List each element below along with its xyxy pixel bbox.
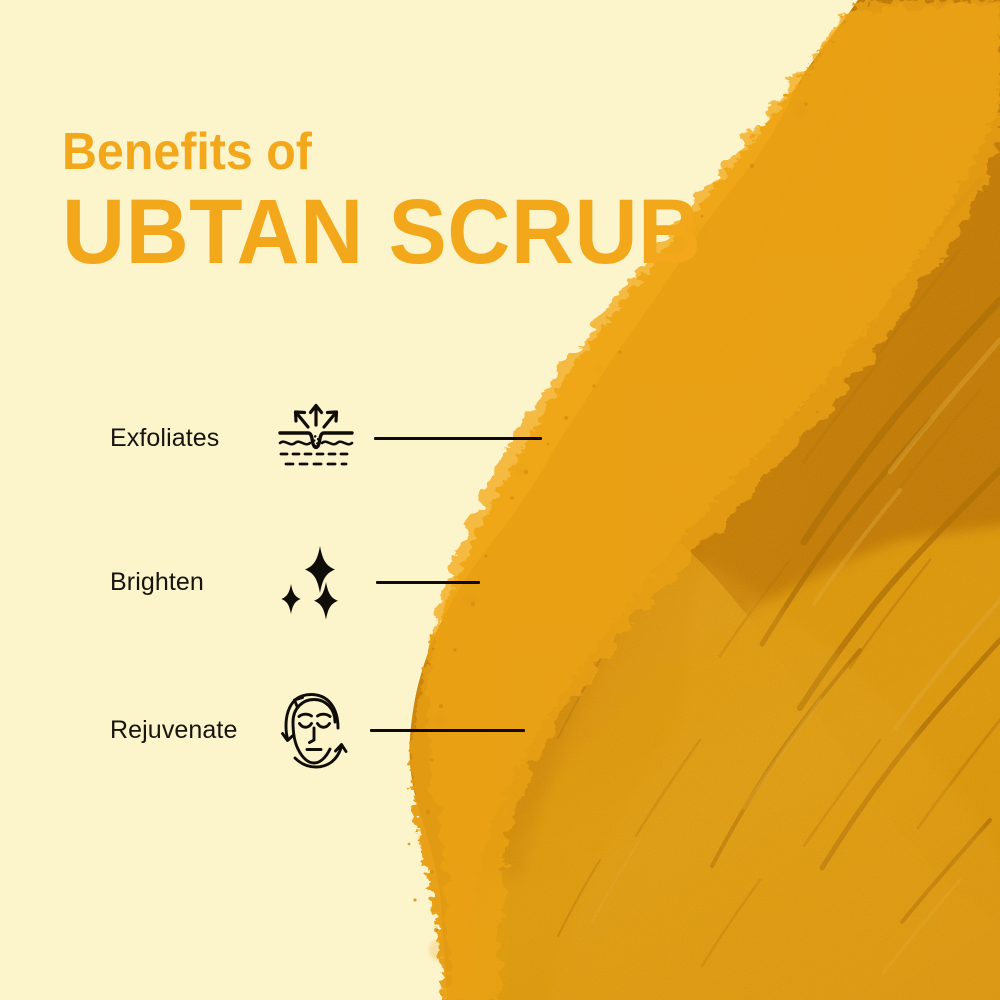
sparkle-stars-icon bbox=[274, 544, 358, 620]
benefit-item-brighten: Brighten bbox=[110, 544, 480, 620]
skin-exfoliation-icon bbox=[274, 402, 358, 474]
benefit-label-brighten: Brighten bbox=[110, 568, 250, 597]
connector-line-3 bbox=[370, 729, 525, 732]
face-refresh-icon bbox=[274, 688, 354, 772]
benefit-label-rejuvenate: Rejuvenate bbox=[110, 716, 260, 745]
benefits-list: Exfoliates bbox=[0, 0, 1000, 1000]
connector-line-2 bbox=[376, 581, 480, 584]
poster-canvas: Benefits of UBTAN SCRUB Exfoliates bbox=[0, 0, 1000, 1000]
benefit-item-exfoliates: Exfoliates bbox=[110, 400, 542, 476]
benefit-item-rejuvenate: Rejuvenate bbox=[110, 692, 525, 768]
connector-line-1 bbox=[374, 437, 542, 440]
benefit-label-exfoliates: Exfoliates bbox=[110, 424, 250, 453]
